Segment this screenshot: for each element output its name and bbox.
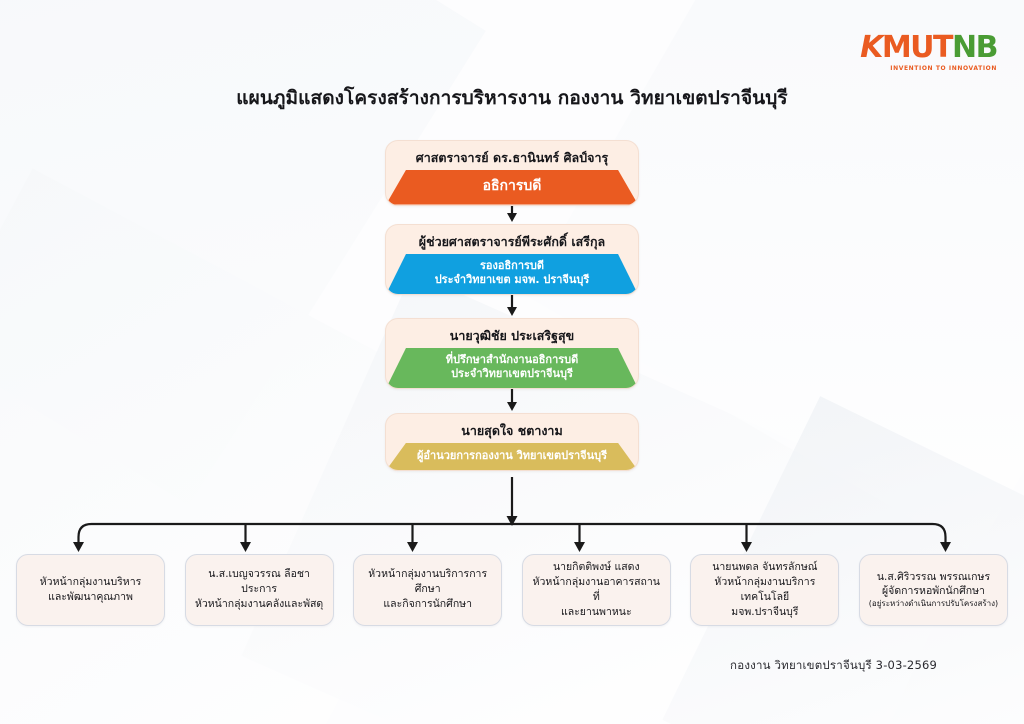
logo-letters-nb: NB bbox=[952, 30, 997, 65]
unit-line-3: และยานพาหนะ bbox=[561, 606, 632, 618]
unit-box-administration-text: หัวหน้ากลุ่มงานบริหาร และพัฒนาคุณภาพ bbox=[40, 575, 142, 605]
org-node-vice-rector-role: รองอธิการบดี ประจำวิทยาเขต มจพ. ปราจีนบุ… bbox=[386, 254, 638, 295]
unit-line-2: และกิจการนักศึกษา bbox=[383, 598, 472, 610]
unit-line-3: มจพ.ปราจีนบุรี bbox=[731, 606, 798, 618]
arrowhead-unit-3 bbox=[407, 542, 418, 552]
arrowhead-vice bbox=[507, 213, 517, 222]
org-node-vice-rector-role-line2: ประจำวิทยาเขต มจพ. ปราจีนบุรี bbox=[390, 273, 634, 288]
org-node-advisor-role: ที่ปรึกษาสำนักงานอธิการบดี ประจำวิทยาเขต… bbox=[386, 348, 638, 389]
org-node-director-name: นายสุดใจ ชตางาม bbox=[386, 414, 638, 443]
connector-bus-left-corner bbox=[79, 524, 92, 545]
unit-line-2: หัวหน้ากลุ่มงานอาคารสถานที่ bbox=[533, 576, 660, 603]
unit-box-academic-services[interactable]: หัวหน้ากลุ่มงานบริการการศึกษา และกิจการน… bbox=[353, 554, 502, 626]
arrowhead-director bbox=[507, 402, 517, 411]
org-node-rector-role-line1: อธิการบดี bbox=[390, 177, 634, 196]
footer-note: กองงาน วิทยาเขตปราจีนบุรี 3-03-2569 bbox=[730, 657, 937, 675]
org-node-advisor-name: นายวุฒิชัย ประเสริฐสุข bbox=[386, 319, 638, 348]
logo-letter-k: K bbox=[860, 30, 882, 65]
org-node-rector-name: ศาสตราจารย์ ดร.ธานินทร์ ศิลป์จารุ bbox=[386, 141, 638, 170]
unit-box-dormitory[interactable]: น.ส.ศิริวรรณ พรรณเกษร ผู้จัดการหอพักนักศ… bbox=[859, 554, 1008, 626]
unit-line-1: น.ส.ศิริวรรณ พรรณเกษร bbox=[877, 571, 990, 583]
unit-box-administration[interactable]: หัวหน้ากลุ่มงานบริหาร และพัฒนาคุณภาพ bbox=[16, 554, 165, 626]
org-node-advisor-role-line1: ที่ปรึกษาสำนักงานอธิการบดี bbox=[390, 353, 634, 368]
unit-box-buildings[interactable]: นายกิตติพงษ์ แสดง หัวหน้ากลุ่มงานอาคารสถ… bbox=[522, 554, 671, 626]
unit-box-finance[interactable]: น.ส.เบญจวรรณ ลือชาประการ หัวหน้ากลุ่มงาน… bbox=[185, 554, 334, 626]
unit-line-1: น.ส.เบญจวรรณ ลือชาประการ bbox=[208, 568, 310, 595]
unit-box-dormitory-text: น.ส.ศิริวรรณ พรรณเกษร ผู้จัดการหอพักนักศ… bbox=[869, 570, 998, 611]
logo-tagline: INVENTION TO INNOVATION bbox=[860, 66, 997, 72]
org-node-vice-rector-name: ผู้ช่วยศาสตราจารย์พีระศักดิ์ เสรีกุล bbox=[386, 225, 638, 254]
org-node-rector[interactable]: ศาสตราจารย์ ดร.ธานินทร์ ศิลป์จารุ อธิการ… bbox=[385, 140, 639, 206]
logo-letters-mut: MUT bbox=[882, 30, 952, 65]
page-title: แผนภูมิแสดงโครงสร้างการบริหารงาน กองงาน … bbox=[0, 83, 1024, 113]
unit-box-finance-text: น.ส.เบญจวรรณ ลือชาประการ หัวหน้ากลุ่มงาน… bbox=[193, 567, 326, 612]
arrowhead-unit-2 bbox=[240, 542, 251, 552]
arrowhead-unit-4 bbox=[574, 542, 585, 552]
logo-wordmark: KMUTNB bbox=[860, 33, 997, 63]
unit-line-1: นายนพดล จันทรลักษณ์ bbox=[712, 561, 817, 573]
unit-box-academic-services-text: หัวหน้ากลุ่มงานบริการการศึกษา และกิจการน… bbox=[361, 567, 494, 612]
org-node-director-role: ผู้อำนวยการกองงาน วิทยาเขตปราจีนบุรี bbox=[386, 443, 638, 471]
arrowhead-unit-1 bbox=[73, 542, 84, 552]
org-node-director-role-line1: ผู้อำนวยการกองงาน วิทยาเขตปราจีนบุรี bbox=[390, 449, 634, 464]
org-node-rector-role: อธิการบดี bbox=[386, 170, 638, 205]
unit-box-buildings-text: นายกิตติพงษ์ แสดง หัวหน้ากลุ่มงานอาคารสถ… bbox=[530, 560, 663, 620]
unit-line-2: หัวหน้ากลุ่มงานบริการเทคโนโลยี bbox=[714, 576, 815, 603]
arrowhead-bus bbox=[507, 516, 518, 526]
arrowhead-unit-5 bbox=[741, 542, 752, 552]
unit-status-note: (อยู่ระหว่างดำเนินการปรับโครงสร้าง) bbox=[869, 599, 998, 610]
unit-line-2: หัวหน้ากลุ่มงานคลังและพัสดุ bbox=[195, 598, 323, 610]
arrowhead-unit-6 bbox=[940, 542, 951, 552]
unit-line-1: หัวหน้ากลุ่มงานบริการการศึกษา bbox=[368, 568, 487, 595]
unit-box-technology[interactable]: นายนพดล จันทรลักษณ์ หัวหน้ากลุ่มงานบริกา… bbox=[690, 554, 839, 626]
org-node-advisor[interactable]: นายวุฒิชัย ประเสริฐสุข ที่ปรึกษาสำนักงาน… bbox=[385, 318, 639, 389]
org-node-director[interactable]: นายสุดใจ ชตางาม ผู้อำนวยการกองงาน วิทยาเ… bbox=[385, 413, 639, 471]
org-chart-page: KMUTNB INVENTION TO INNOVATION แผนภูมิแส… bbox=[0, 0, 1024, 724]
unit-line-2: และพัฒนาคุณภาพ bbox=[48, 591, 133, 603]
unit-line-1: หัวหน้ากลุ่มงานบริหาร bbox=[40, 576, 142, 588]
arrowhead-advisor bbox=[507, 307, 517, 316]
unit-line-1: นายกิตติพงษ์ แสดง bbox=[553, 561, 640, 573]
unit-row: หัวหน้ากลุ่มงานบริหาร และพัฒนาคุณภาพ น.ส… bbox=[16, 554, 1008, 626]
unit-line-2: ผู้จัดการหอพักนักศึกษา bbox=[882, 585, 985, 597]
org-node-advisor-role-line2: ประจำวิทยาเขตปราจีนบุรี bbox=[390, 367, 634, 382]
kmutnb-logo: KMUTNB INVENTION TO INNOVATION bbox=[860, 33, 997, 72]
connector-bus-right-corner bbox=[933, 524, 946, 545]
org-node-vice-rector-role-line1: รองอธิการบดี bbox=[390, 259, 634, 274]
org-node-vice-rector[interactable]: ผู้ช่วยศาสตราจารย์พีระศักดิ์ เสรีกุล รอง… bbox=[385, 224, 639, 295]
unit-box-technology-text: นายนพดล จันทรลักษณ์ หัวหน้ากลุ่มงานบริกา… bbox=[698, 560, 831, 620]
